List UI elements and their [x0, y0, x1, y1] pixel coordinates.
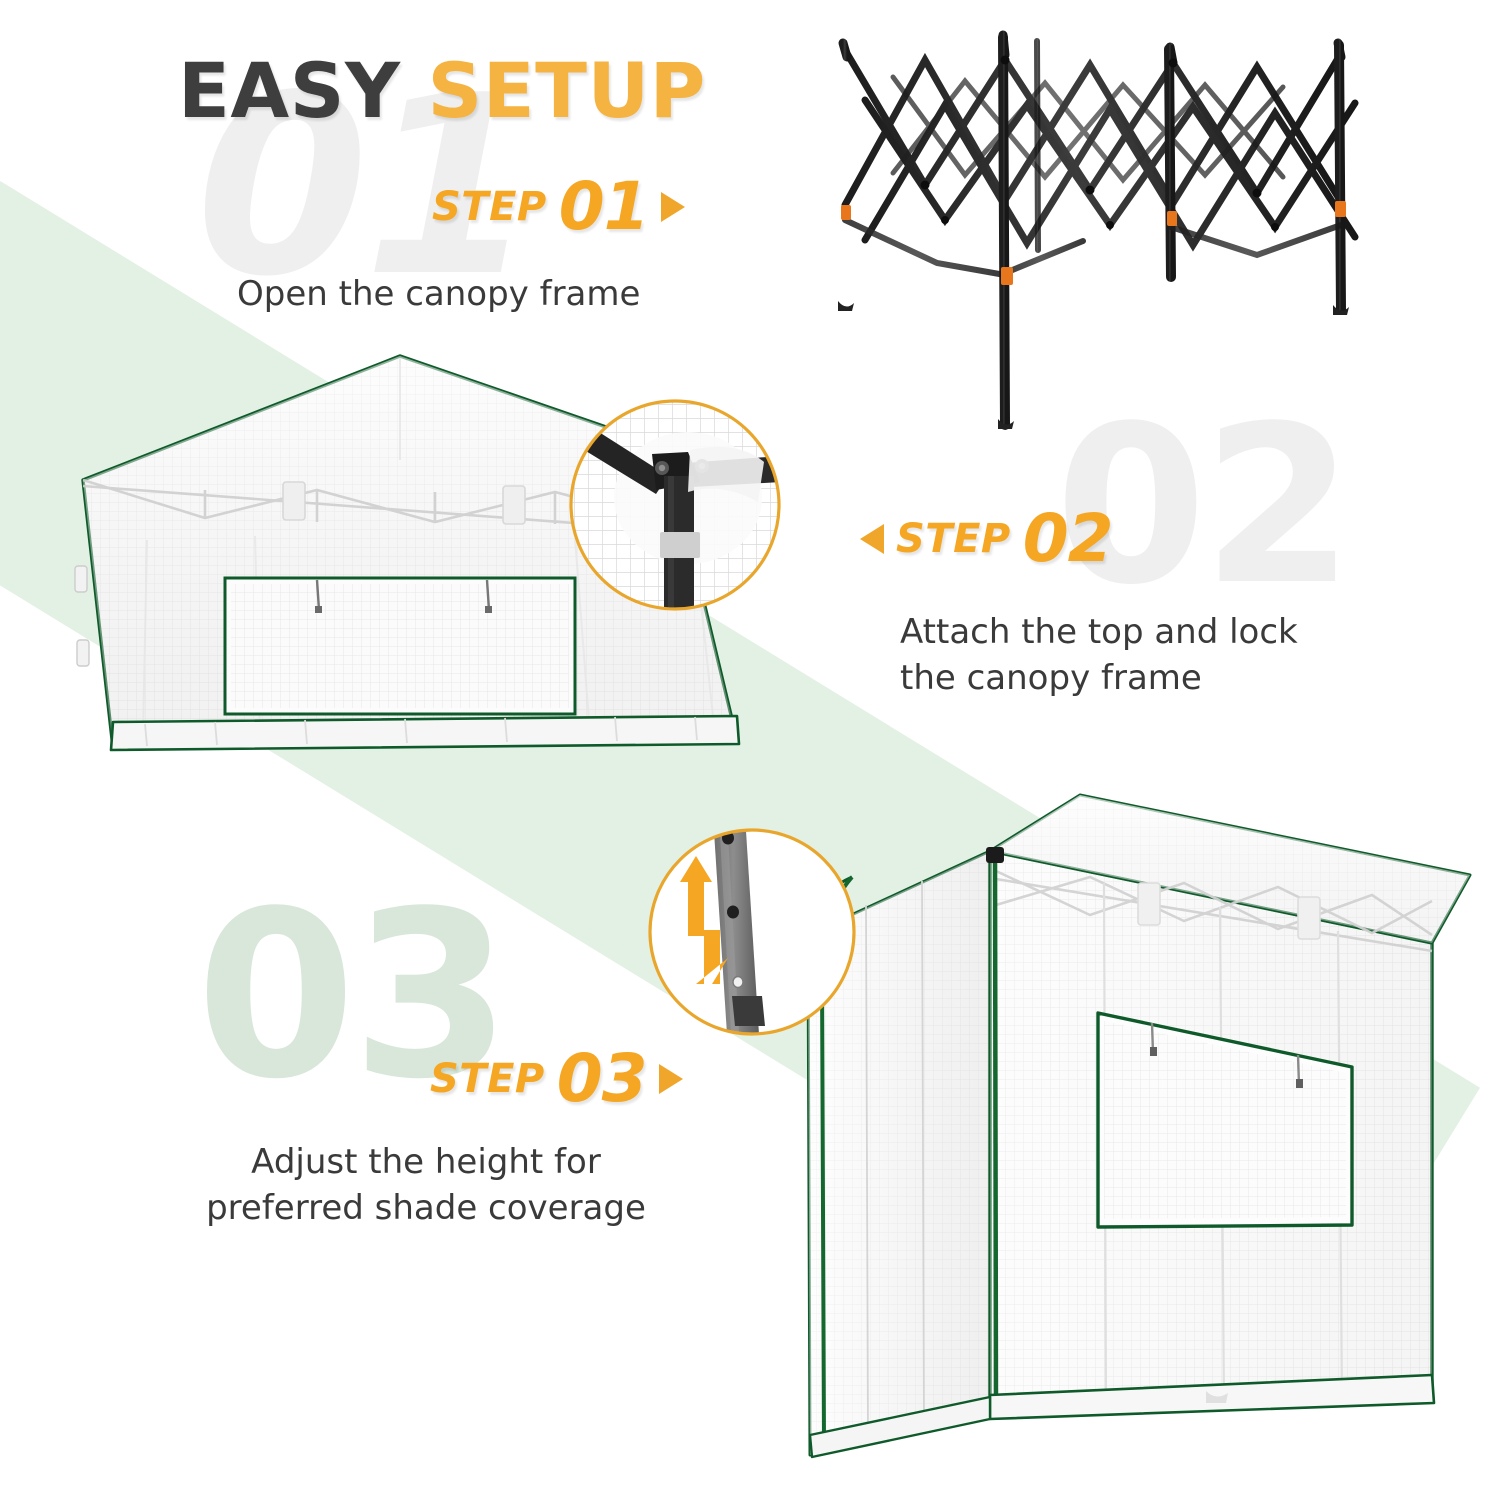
step-2-number: 02	[1023, 500, 1113, 577]
page-title: EASY SETUP	[178, 46, 706, 135]
step-1-word: STEP	[432, 184, 547, 230]
step-3-label: STEP 03	[430, 1040, 683, 1117]
step-1-number: 01	[559, 168, 649, 245]
title-part-easy: EASY	[178, 46, 427, 135]
triangle-right-icon	[659, 1064, 683, 1094]
step-1-description: Open the canopy frame	[237, 272, 640, 318]
step-2-word: STEP	[896, 516, 1011, 562]
triangle-left-icon	[860, 524, 884, 554]
corner-joint-callout	[560, 390, 790, 620]
infographic-canvas: 01 02 03	[0, 0, 1500, 1500]
step-2-description: Attach the top and lock the canopy frame	[900, 610, 1298, 701]
step-3-description: Adjust the height for preferred shade co…	[196, 1140, 656, 1231]
triangle-right-icon	[661, 192, 685, 222]
title-part-setup: SETUP	[427, 46, 705, 135]
step-1-label: STEP 01	[432, 168, 685, 245]
canopy-frame-illustration	[805, 5, 1405, 455]
leg-height-adjust-callout	[640, 820, 870, 1050]
step-2-label: STEP 02	[860, 500, 1113, 577]
step-3-number: 03	[557, 1040, 647, 1117]
step-3-word: STEP	[430, 1056, 545, 1102]
